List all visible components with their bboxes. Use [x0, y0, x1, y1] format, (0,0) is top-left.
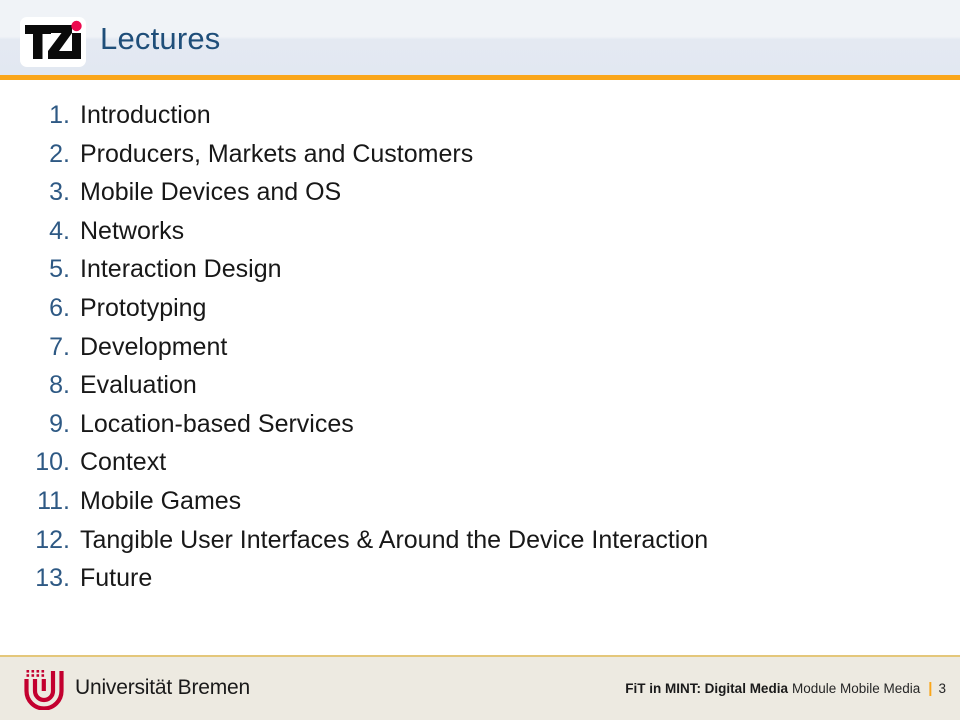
list-item-label: Networks — [80, 212, 184, 251]
list-item[interactable]: 4. Networks — [0, 212, 960, 251]
list-item-number: 9. — [22, 405, 80, 444]
list-item-label: Context — [80, 443, 166, 482]
list-item-label: Producers, Markets and Customers — [80, 135, 473, 174]
list-item-number: 3. — [22, 173, 80, 212]
list-item-number: 7. — [22, 328, 80, 367]
list-item-number: 8. — [22, 366, 80, 405]
list-item-label: Interaction Design — [80, 250, 282, 289]
list-item-label: Tangible User Interfaces & Around the De… — [80, 521, 708, 560]
list-item[interactable]: 2. Producers, Markets and Customers — [0, 135, 960, 174]
list-item-label: Evaluation — [80, 366, 197, 405]
list-item[interactable]: 12. Tangible User Interfaces & Around th… — [0, 521, 960, 560]
list-item-number: 10. — [22, 443, 80, 482]
header-accent-rule — [0, 75, 960, 80]
list-item[interactable]: 8. Evaluation — [0, 366, 960, 405]
list-item-number: 12. — [22, 521, 80, 560]
list-item[interactable]: 6. Prototyping — [0, 289, 960, 328]
list-item-label: Introduction — [80, 96, 211, 135]
page-title: Lectures — [100, 18, 221, 60]
slide-footer: Universität Bremen FiT in MINT: Digital … — [0, 655, 960, 720]
list-item-label: Future — [80, 559, 152, 598]
list-item[interactable]: 1. Introduction — [0, 96, 960, 135]
list-item-number: 1. — [22, 96, 80, 135]
list-item-label: Development — [80, 328, 227, 367]
universitaet-bremen-wordmark: Universität Bremen — [75, 676, 250, 700]
page-number: 3 — [938, 681, 946, 696]
lecture-content: 1. Introduction 2. Producers, Markets an… — [0, 96, 960, 641]
list-item[interactable]: 10. Context — [0, 443, 960, 482]
list-item[interactable]: 13. Future — [0, 559, 960, 598]
list-item-number: 13. — [22, 559, 80, 598]
lectures-list: 1. Introduction 2. Producers, Markets an… — [0, 96, 960, 598]
list-item-label: Mobile Games — [80, 482, 241, 521]
list-item[interactable]: 3. Mobile Devices and OS — [0, 173, 960, 212]
list-item[interactable]: 7. Development — [0, 328, 960, 367]
footer-meta: FiT in MINT: Digital Media Module Mobile… — [625, 657, 946, 720]
list-item-label: Location-based Services — [80, 405, 354, 444]
list-item-label: Mobile Devices and OS — [80, 173, 341, 212]
bremen-u-mark — [22, 666, 66, 710]
footer-separator: | — [928, 680, 932, 697]
list-item-number: 6. — [22, 289, 80, 328]
universitaet-bremen-logo: Universität Bremen — [22, 665, 250, 711]
list-item-number: 4. — [22, 212, 80, 251]
tzi-logo — [20, 17, 86, 67]
list-item-number: 5. — [22, 250, 80, 289]
list-item[interactable]: 9. Location-based Services — [0, 405, 960, 444]
list-item[interactable]: 11. Mobile Games — [0, 482, 960, 521]
slide: Lectures 1. Introduction 2. Producers, M… — [0, 0, 960, 720]
list-item-number: 2. — [22, 135, 80, 174]
list-item[interactable]: 5. Interaction Design — [0, 250, 960, 289]
list-item-number: 11. — [22, 482, 80, 521]
slide-header: Lectures — [0, 0, 960, 76]
module-name: Module Mobile Media — [792, 681, 920, 696]
course-title: FiT in MINT: Digital Media — [625, 681, 788, 696]
list-item-label: Prototyping — [80, 289, 206, 328]
